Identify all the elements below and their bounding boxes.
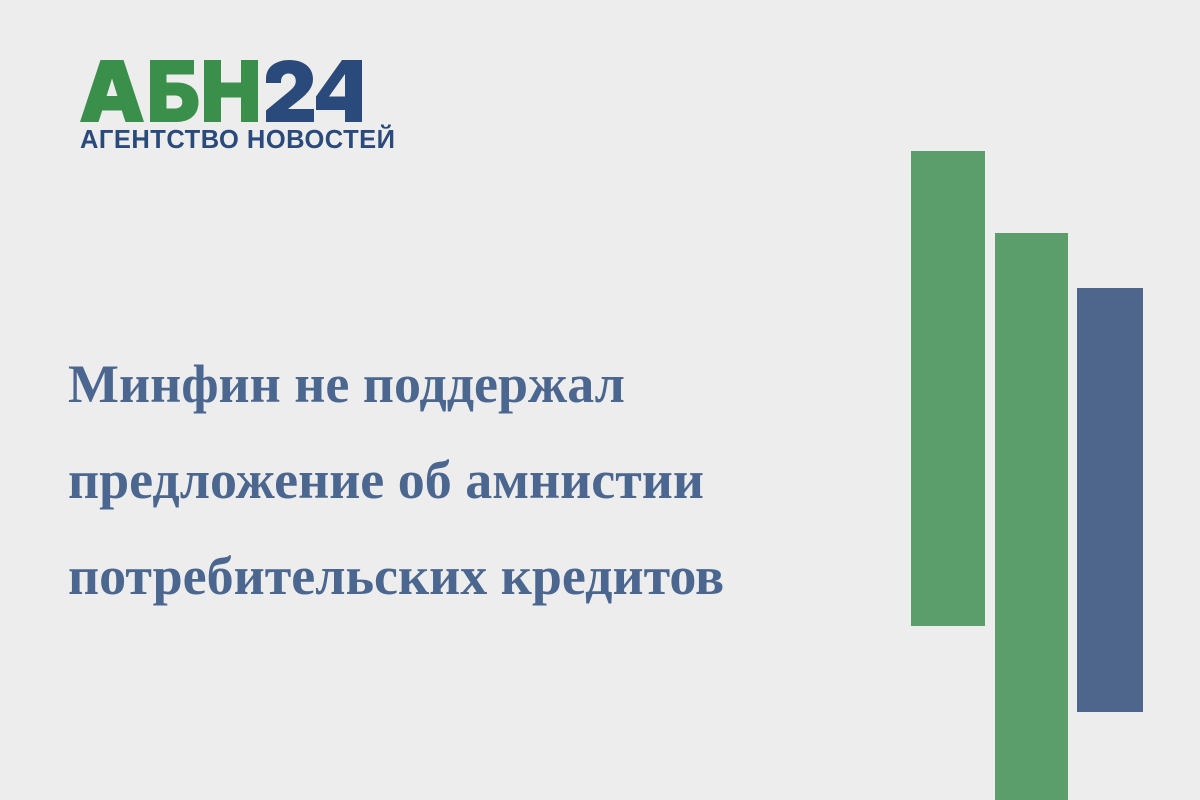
headline-line-2: предложение об амнистии [68, 432, 868, 528]
logo-tagline: АГЕНТСТВО НОВОСТЕЙ [80, 128, 370, 154]
news-card: АГЕНТСТВО НОВОСТЕЙ Минфин не поддержал п… [0, 0, 1200, 800]
headline-line-3: потребительских кредитов [68, 528, 868, 624]
headline-line-1: Минфин не поддержал [68, 336, 868, 432]
logo-wordmark-abn24-icon [80, 60, 362, 122]
logo[interactable]: АГЕНТСТВО НОВОСТЕЙ [80, 60, 370, 160]
page-title: Минфин не поддержал предложение об амнис… [68, 336, 868, 624]
chart-bar-1 [911, 151, 985, 626]
chart-bar-3 [1077, 288, 1143, 712]
chart-bar-2 [995, 233, 1068, 800]
